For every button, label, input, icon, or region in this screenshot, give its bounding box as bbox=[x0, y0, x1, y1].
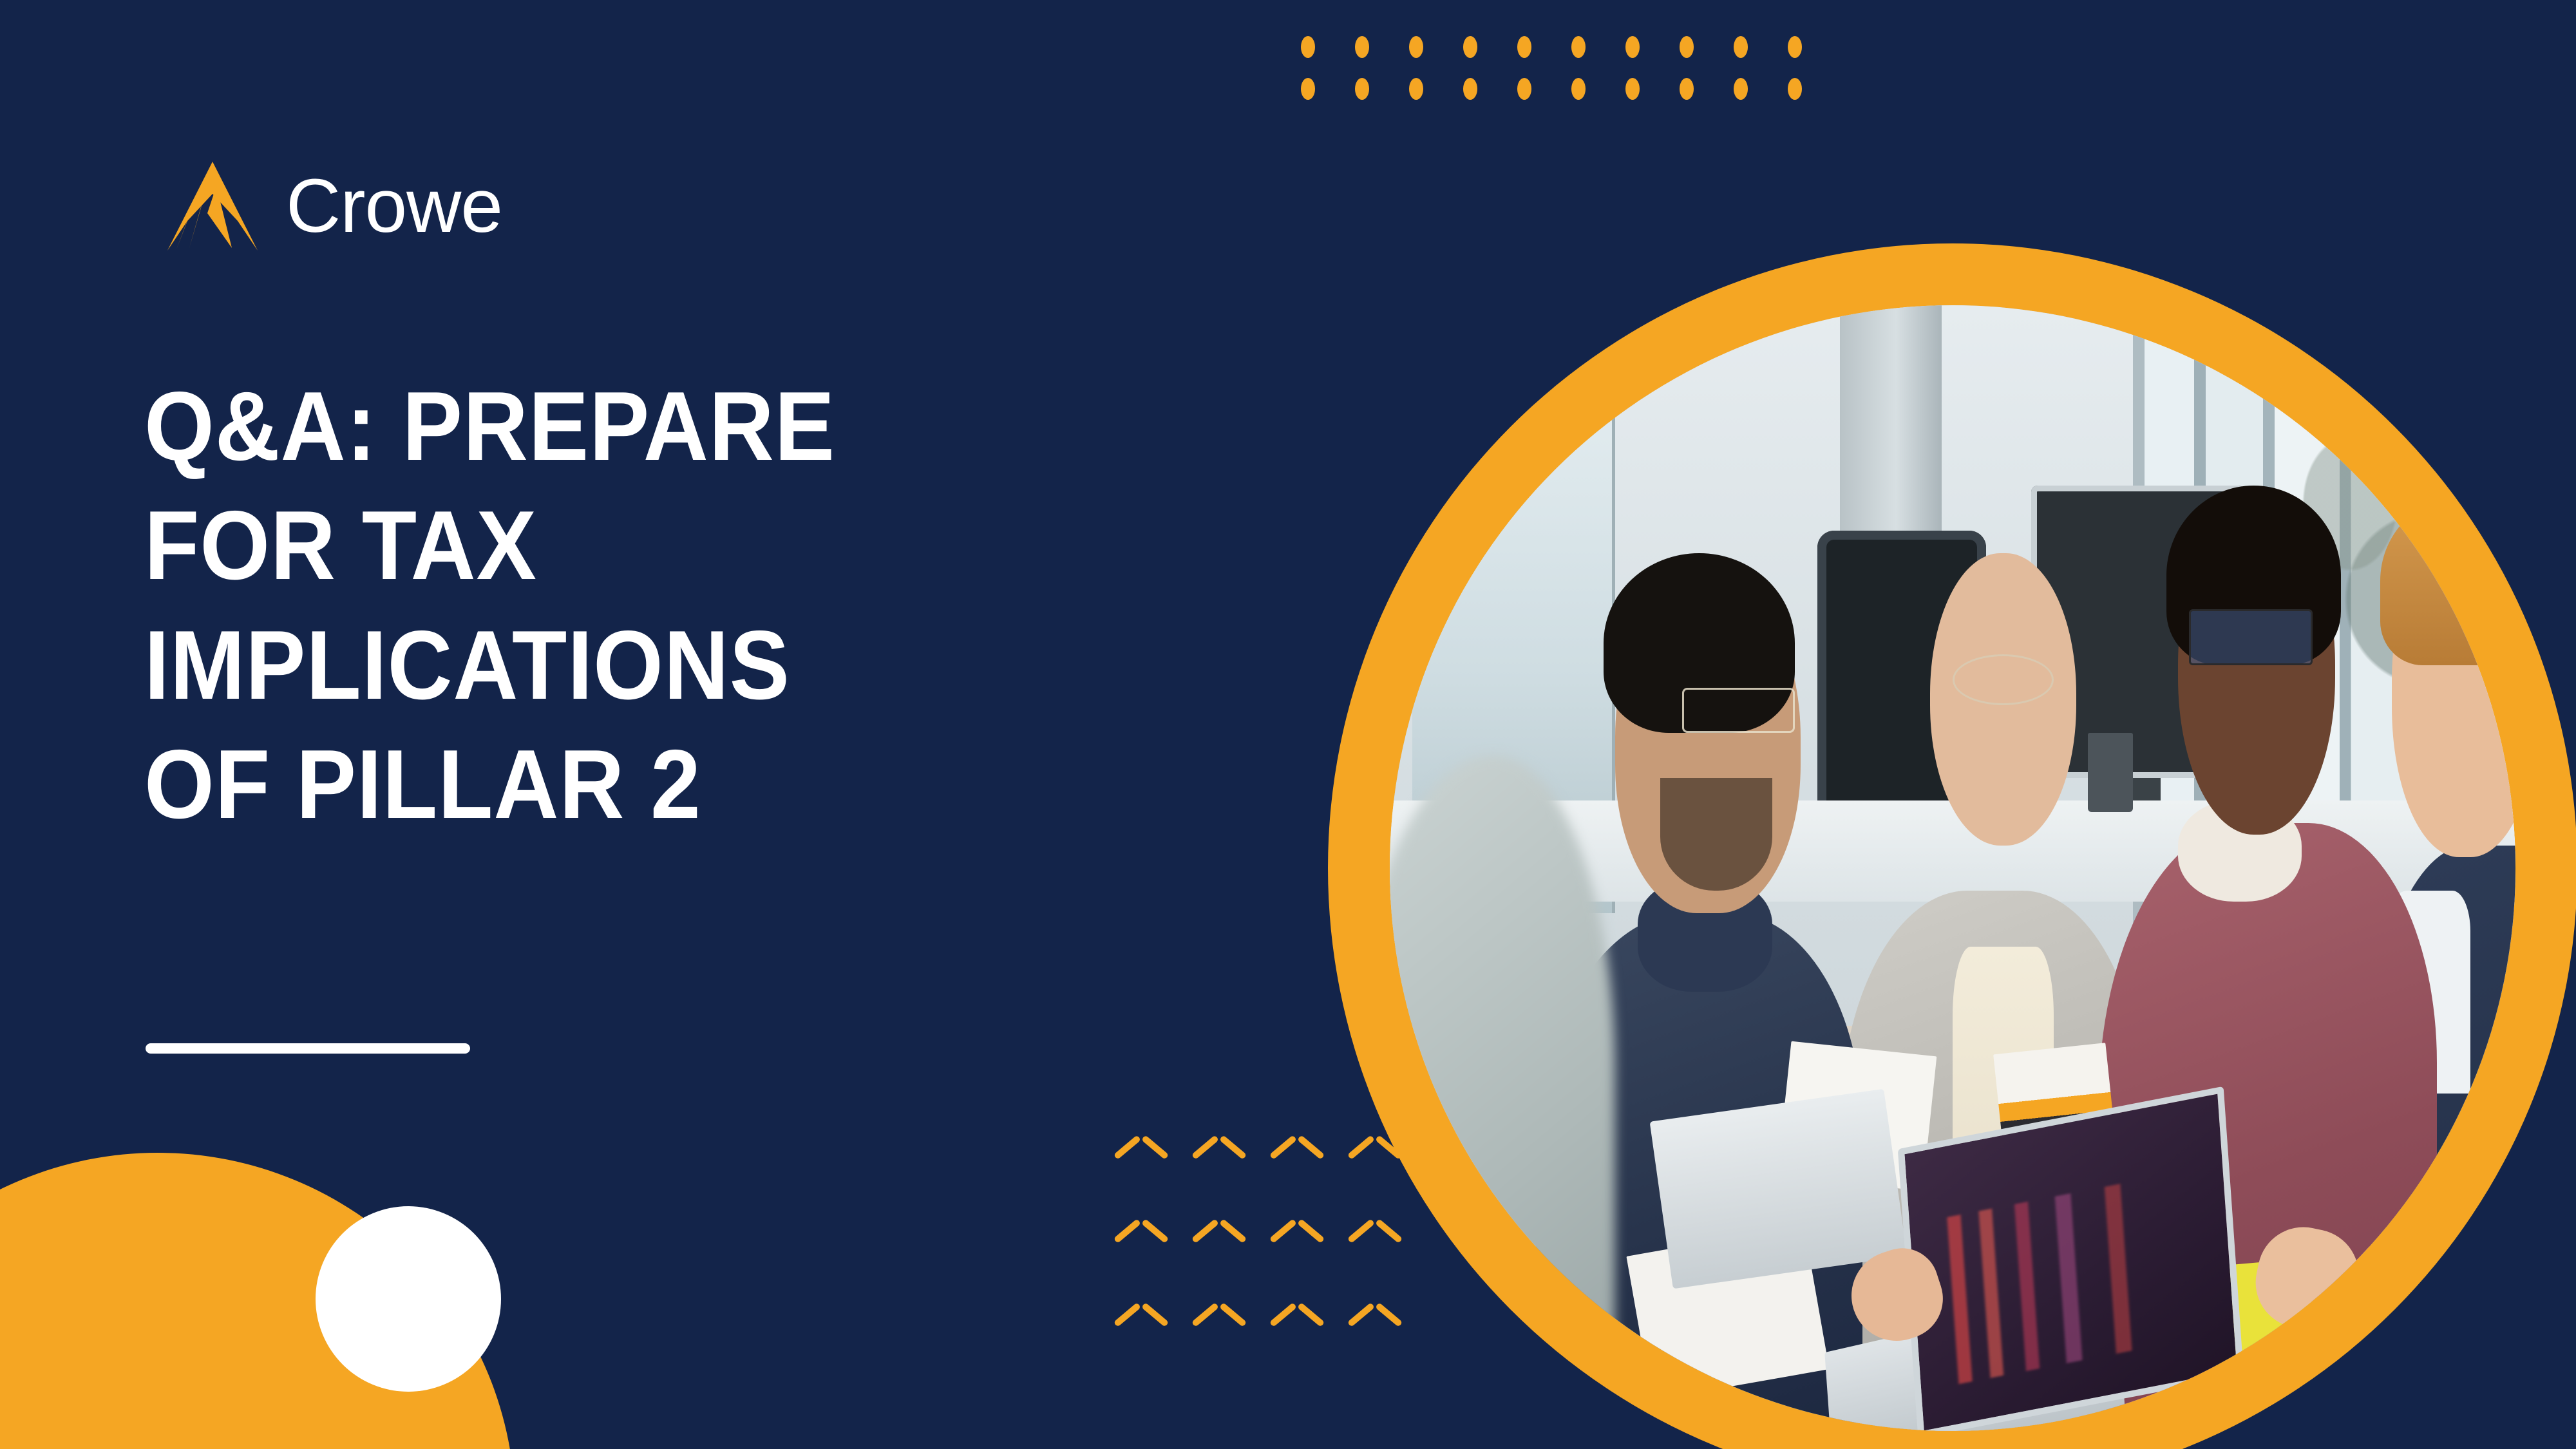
dot bbox=[1734, 36, 1748, 58]
chevron-up-icon bbox=[1117, 1307, 1165, 1343]
headline-line-3: IMPLICATIONS bbox=[144, 606, 1045, 725]
dot bbox=[1680, 78, 1694, 100]
dot bbox=[1409, 78, 1423, 100]
dot bbox=[1301, 78, 1315, 100]
white-circle-decoration bbox=[316, 1206, 501, 1392]
person-navy-beard bbox=[1660, 778, 1773, 891]
dot bbox=[1463, 36, 1477, 58]
person-foreground-blurred bbox=[1390, 755, 1615, 1431]
dot bbox=[1625, 78, 1640, 100]
dot bbox=[1571, 36, 1586, 58]
chevron-up-icon bbox=[1195, 1307, 1243, 1343]
dot bbox=[1301, 36, 1315, 58]
dot bbox=[1680, 36, 1694, 58]
chevron-up-icon bbox=[1117, 1140, 1165, 1176]
person-maroon-glasses bbox=[2189, 609, 2313, 665]
chevron-up-icon bbox=[1195, 1224, 1243, 1260]
page-title: Q&A: PREPARE FOR TAX IMPLICATIONS OF PIL… bbox=[144, 367, 1045, 845]
headline-line-2: FOR TAX bbox=[144, 486, 1045, 605]
person-navy-glasses bbox=[1682, 688, 1795, 733]
dot bbox=[1571, 78, 1586, 100]
hero-photo bbox=[1390, 305, 2515, 1431]
wristwatch bbox=[2347, 1307, 2403, 1363]
dot bbox=[1517, 78, 1531, 100]
person-woman-glasses bbox=[1953, 654, 2054, 705]
dot-grid-decoration bbox=[1301, 26, 1842, 109]
chevron-up-icon bbox=[1273, 1224, 1321, 1260]
dot bbox=[1463, 78, 1477, 100]
pen-cup bbox=[2088, 733, 2133, 811]
tablet-device bbox=[1649, 1089, 1907, 1289]
dot bbox=[1788, 36, 1802, 58]
dot bbox=[1788, 78, 1802, 100]
chevron-up-icon bbox=[1273, 1140, 1321, 1176]
chevron-up-icon bbox=[1273, 1307, 1321, 1343]
crowe-arrow-icon bbox=[161, 158, 264, 254]
crowe-logo[interactable]: Crowe bbox=[161, 158, 502, 254]
title-underline-rule bbox=[146, 1043, 470, 1054]
dot bbox=[1355, 78, 1369, 100]
dot bbox=[1409, 36, 1423, 58]
dot bbox=[1734, 78, 1748, 100]
headline-line-1: Q&A: PREPARE bbox=[144, 367, 1045, 486]
dot bbox=[1517, 36, 1531, 58]
chevron-up-icon bbox=[1195, 1140, 1243, 1176]
marketing-banner: Crowe Q&A: PREPARE FOR TAX IMPLICATIONS … bbox=[0, 0, 2576, 1449]
chevron-up-icon bbox=[1117, 1224, 1165, 1260]
headline-line-4: OF PILLAR 2 bbox=[144, 725, 1045, 844]
dot bbox=[1355, 36, 1369, 58]
crowe-wordmark: Crowe bbox=[286, 168, 502, 244]
dot bbox=[1625, 36, 1640, 58]
